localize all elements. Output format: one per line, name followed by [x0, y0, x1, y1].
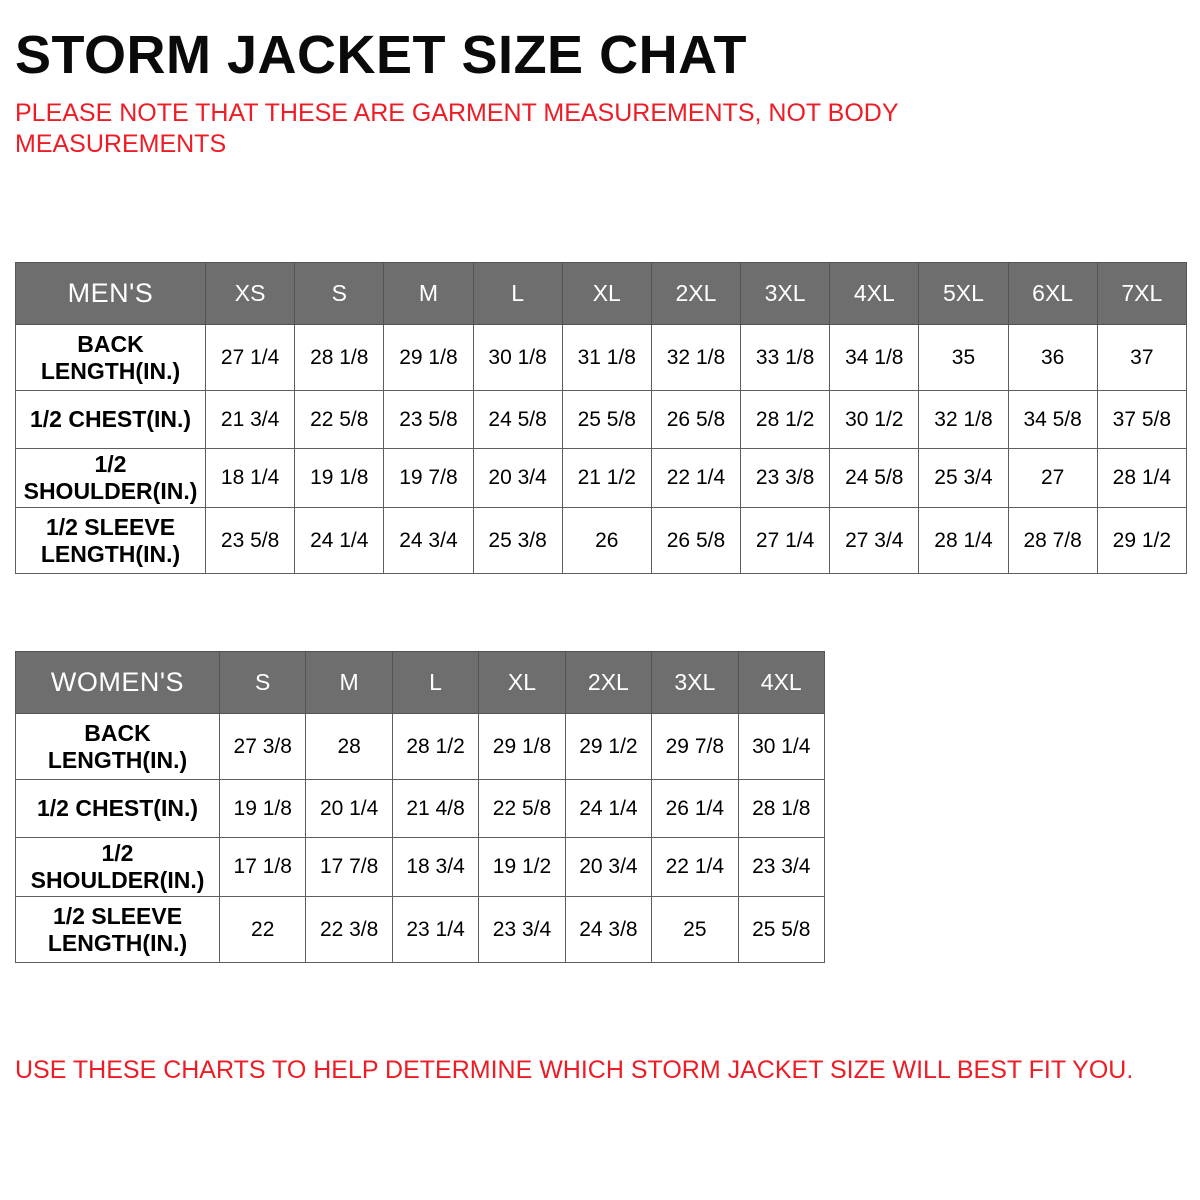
cell: 27 3/4 [830, 508, 919, 574]
cell: 29 1/8 [384, 325, 473, 391]
cell: 29 7/8 [652, 714, 738, 780]
womens-size-header-2xl: 2XL [565, 652, 651, 714]
page-title: STORM JACKET SIZE CHAT [15, 0, 1185, 84]
cell: 24 3/8 [565, 897, 651, 963]
cell: 36 [1008, 325, 1097, 391]
table-row: 1/2 CHEST(IN.) 21 3/4 22 5/8 23 5/8 24 5… [16, 391, 1187, 449]
womens-size-header-3xl: 3XL [652, 652, 738, 714]
womens-size-header-4xl: 4XL [738, 652, 824, 714]
mens-size-header-7xl: 7XL [1097, 263, 1186, 325]
table-row: 1/2 SHOULDER(IN.) 18 1/4 19 1/8 19 7/8 2… [16, 449, 1187, 508]
cell: 34 5/8 [1008, 391, 1097, 449]
womens-row-label-half-shoulder: 1/2 SHOULDER(IN.) [16, 838, 220, 897]
cell: 21 1/2 [562, 449, 651, 508]
cell: 24 1/4 [295, 508, 384, 574]
mens-size-header-xs: XS [206, 263, 295, 325]
label-line-1: BACK [77, 331, 143, 357]
cell: 23 5/8 [384, 391, 473, 449]
cell: 25 5/8 [738, 897, 824, 963]
cell: 26 [562, 508, 651, 574]
cell: 19 1/8 [220, 780, 306, 838]
mens-row-label-half-shoulder: 1/2 SHOULDER(IN.) [16, 449, 206, 508]
cell: 18 3/4 [392, 838, 478, 897]
cell: 23 3/4 [738, 838, 824, 897]
mens-size-header-m: M [384, 263, 473, 325]
womens-table-head: WOMEN'S S M L XL 2XL 3XL 4XL [16, 652, 825, 714]
mens-table-body: BACKLENGTH(IN.) 27 1/4 28 1/8 29 1/8 30 … [16, 325, 1187, 574]
cell: 29 1/8 [479, 714, 565, 780]
cell: 23 3/8 [741, 449, 830, 508]
cell: 22 [220, 897, 306, 963]
mens-size-header-s: S [295, 263, 384, 325]
cell: 27 3/8 [220, 714, 306, 780]
womens-row-label-half-chest: 1/2 CHEST(IN.) [16, 780, 220, 838]
womens-size-table-wrapper: WOMEN'S S M L XL 2XL 3XL 4XL BACKLENGTH(… [15, 651, 825, 963]
mens-size-header-4xl: 4XL [830, 263, 919, 325]
cell: 23 1/4 [392, 897, 478, 963]
table-row: BACKLENGTH(IN.) 27 1/4 28 1/8 29 1/8 30 … [16, 325, 1187, 391]
label-line-1: 1/2 SLEEVE [53, 903, 182, 929]
garment-measurement-note: PLEASE NOTE THAT THESE ARE GARMENT MEASU… [15, 84, 975, 160]
cell: 34 1/8 [830, 325, 919, 391]
cell: 25 5/8 [562, 391, 651, 449]
womens-size-header-l: L [392, 652, 478, 714]
mens-size-header-5xl: 5XL [919, 263, 1008, 325]
table-row: 1/2 SHOULDER(IN.) 17 1/8 17 7/8 18 3/4 1… [16, 838, 825, 897]
womens-size-header-m: M [306, 652, 392, 714]
womens-row-label-back-length: BACKLENGTH(IN.) [16, 714, 220, 780]
mens-size-header-3xl: 3XL [741, 263, 830, 325]
table-row: BACKLENGTH(IN.) 27 3/8 28 28 1/2 29 1/8 … [16, 714, 825, 780]
cell: 35 [919, 325, 1008, 391]
table-row: 1/2 SLEEVELENGTH(IN.) 22 22 3/8 23 1/4 2… [16, 897, 825, 963]
mens-size-header-6xl: 6XL [1008, 263, 1097, 325]
cell: 28 1/8 [295, 325, 384, 391]
cell: 29 1/2 [565, 714, 651, 780]
mens-size-header-l: L [473, 263, 562, 325]
cell: 28 7/8 [1008, 508, 1097, 574]
help-determine-size-note: USE THESE CHARTS TO HELP DETERMINE WHICH… [15, 1055, 1133, 1085]
mens-table-head: MEN'S XS S M L XL 2XL 3XL 4XL 5XL 6XL 7X… [16, 263, 1187, 325]
label-line-1: BACK [84, 720, 150, 746]
mens-size-header-2xl: 2XL [651, 263, 740, 325]
cell: 21 3/4 [206, 391, 295, 449]
mens-size-header-xl: XL [562, 263, 651, 325]
table-row: 1/2 SLEEVELENGTH(IN.) 23 5/8 24 1/4 24 3… [16, 508, 1187, 574]
womens-size-table: WOMEN'S S M L XL 2XL 3XL 4XL BACKLENGTH(… [15, 651, 825, 963]
cell: 20 3/4 [565, 838, 651, 897]
cell: 26 1/4 [652, 780, 738, 838]
cell: 20 3/4 [473, 449, 562, 508]
cell: 30 1/4 [738, 714, 824, 780]
cell: 31 1/8 [562, 325, 651, 391]
cell: 19 1/2 [479, 838, 565, 897]
cell: 28 1/2 [741, 391, 830, 449]
cell: 25 [652, 897, 738, 963]
cell: 26 5/8 [651, 508, 740, 574]
cell: 32 1/8 [651, 325, 740, 391]
mens-header-row: MEN'S XS S M L XL 2XL 3XL 4XL 5XL 6XL 7X… [16, 263, 1187, 325]
cell: 23 5/8 [206, 508, 295, 574]
label-line-1: 1/2 SLEEVE [46, 514, 175, 540]
cell: 24 1/4 [565, 780, 651, 838]
cell: 23 3/4 [479, 897, 565, 963]
womens-row-label-half-sleeve-length: 1/2 SLEEVELENGTH(IN.) [16, 897, 220, 963]
cell: 25 3/8 [473, 508, 562, 574]
mens-row-label-half-chest: 1/2 CHEST(IN.) [16, 391, 206, 449]
cell: 22 1/4 [652, 838, 738, 897]
label-line-2: LENGTH(IN.) [41, 358, 180, 384]
womens-size-header-xl: XL [479, 652, 565, 714]
cell: 21 4/8 [392, 780, 478, 838]
cell: 32 1/8 [919, 391, 1008, 449]
mens-size-table-wrapper: MEN'S XS S M L XL 2XL 3XL 4XL 5XL 6XL 7X… [15, 262, 1187, 574]
cell: 22 1/4 [651, 449, 740, 508]
cell: 22 5/8 [295, 391, 384, 449]
cell: 17 7/8 [306, 838, 392, 897]
cell: 28 1/4 [919, 508, 1008, 574]
cell: 22 3/8 [306, 897, 392, 963]
cell: 33 1/8 [741, 325, 830, 391]
size-chart-page: STORM JACKET SIZE CHAT PLEASE NOTE THAT … [0, 0, 1200, 1200]
cell: 20 1/4 [306, 780, 392, 838]
cell: 27 1/4 [206, 325, 295, 391]
womens-size-header-s: S [220, 652, 306, 714]
cell: 17 1/8 [220, 838, 306, 897]
cell: 30 1/2 [830, 391, 919, 449]
table-row: 1/2 CHEST(IN.) 19 1/8 20 1/4 21 4/8 22 5… [16, 780, 825, 838]
cell: 28 1/2 [392, 714, 478, 780]
mens-row-label-back-length: BACKLENGTH(IN.) [16, 325, 206, 391]
womens-corner-header: WOMEN'S [16, 652, 220, 714]
cell: 27 1/4 [741, 508, 830, 574]
cell: 24 5/8 [473, 391, 562, 449]
cell: 19 7/8 [384, 449, 473, 508]
cell: 30 1/8 [473, 325, 562, 391]
cell: 29 1/2 [1097, 508, 1186, 574]
cell: 28 [306, 714, 392, 780]
cell: 28 1/4 [1097, 449, 1186, 508]
mens-size-table: MEN'S XS S M L XL 2XL 3XL 4XL 5XL 6XL 7X… [15, 262, 1187, 574]
womens-header-row: WOMEN'S S M L XL 2XL 3XL 4XL [16, 652, 825, 714]
mens-row-label-half-sleeve-length: 1/2 SLEEVELENGTH(IN.) [16, 508, 206, 574]
womens-table-body: BACKLENGTH(IN.) 27 3/8 28 28 1/2 29 1/8 … [16, 714, 825, 963]
cell: 26 5/8 [651, 391, 740, 449]
label-line-2: LENGTH(IN.) [48, 930, 187, 956]
cell: 37 [1097, 325, 1186, 391]
label-line-2: LENGTH(IN.) [41, 541, 180, 567]
cell: 28 1/8 [738, 780, 824, 838]
cell: 24 3/4 [384, 508, 473, 574]
cell: 25 3/4 [919, 449, 1008, 508]
cell: 24 5/8 [830, 449, 919, 508]
cell: 22 5/8 [479, 780, 565, 838]
cell: 27 [1008, 449, 1097, 508]
cell: 37 5/8 [1097, 391, 1186, 449]
mens-corner-header: MEN'S [16, 263, 206, 325]
cell: 19 1/8 [295, 449, 384, 508]
label-line-2: LENGTH(IN.) [48, 747, 187, 773]
cell: 18 1/4 [206, 449, 295, 508]
